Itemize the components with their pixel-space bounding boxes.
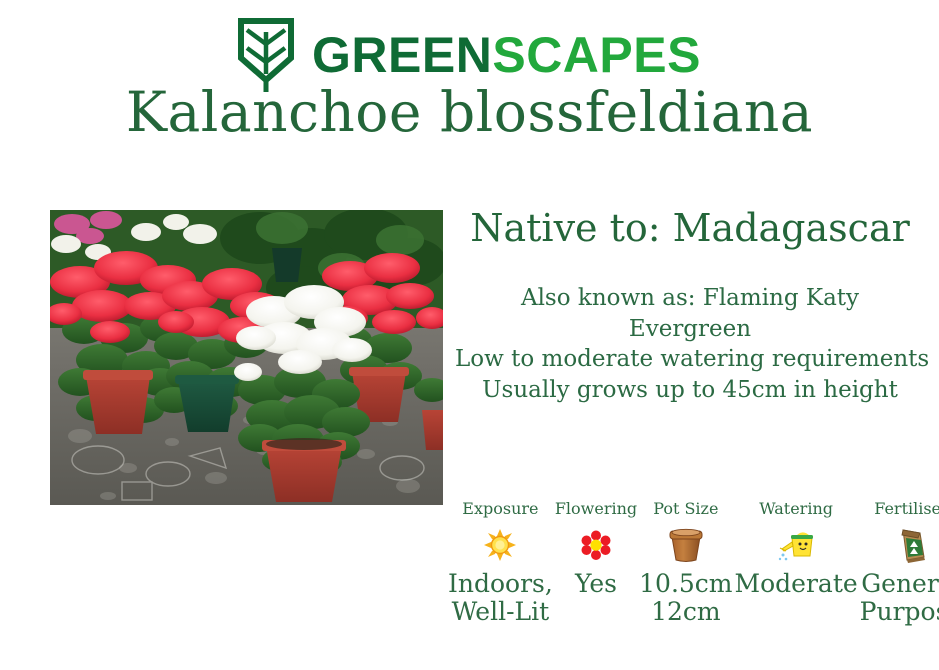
care-value-fertiliser-line-2: Purpose xyxy=(860,598,939,626)
sun-icon xyxy=(448,524,553,566)
page-title: Kalanchoe blossfeldiana xyxy=(0,84,939,141)
native-to-subtitle: Native to: Madagascar xyxy=(455,208,925,250)
care-value-watering-line-1: Moderate xyxy=(735,570,858,598)
watering-can-icon xyxy=(735,524,858,566)
care-column-watering: Watering Moderate xyxy=(734,500,859,598)
brand-word-scapes: SCAPES xyxy=(492,27,701,83)
care-value-fertiliser: General Purpose xyxy=(860,570,939,626)
care-column-pot-size: Pot Size 10.5cm 12cm xyxy=(638,500,733,626)
care-value-exposure: Indoors, Well-Lit xyxy=(448,570,553,626)
description-line-4: Usually grows up to 45cm in height xyxy=(455,375,925,406)
care-value-flowering-line-1: Yes xyxy=(555,570,637,598)
brand-word-green: GREEN xyxy=(312,27,492,83)
care-header-pot-size: Pot Size xyxy=(639,500,732,518)
care-header-flowering: Flowering xyxy=(555,500,637,518)
care-column-exposure: Exposure Indoors, Well-Lit xyxy=(447,500,554,626)
care-value-flowering: Yes xyxy=(555,570,637,598)
description-line-1: Also known as: Flaming Katy xyxy=(455,283,925,314)
care-value-pot-size: 10.5cm 12cm xyxy=(639,570,732,626)
fertiliser-bag-icon xyxy=(860,524,939,566)
description-block: Also known as: Flaming Katy Evergreen Lo… xyxy=(455,283,925,405)
brand-wordmark: GREENSCAPES xyxy=(312,30,701,80)
brand-header: GREENSCAPES xyxy=(0,0,939,78)
plant-pot-icon xyxy=(639,524,732,566)
flower-icon xyxy=(555,524,637,566)
care-header-watering: Watering xyxy=(735,500,858,518)
kalanchoe-plants-photo xyxy=(50,210,443,505)
care-header-exposure: Exposure xyxy=(448,500,553,518)
care-value-fertiliser-line-1: General xyxy=(860,570,939,598)
description-line-2: Evergreen xyxy=(455,314,925,345)
care-column-flowering: Flowering Yes xyxy=(554,500,638,598)
description-line-3: Low to moderate watering requirements xyxy=(455,344,925,375)
care-value-pot-size-line-2: 12cm xyxy=(639,598,732,626)
care-value-exposure-line-1: Indoors, xyxy=(448,570,553,598)
care-value-watering: Moderate xyxy=(735,570,858,598)
care-value-pot-size-line-1: 10.5cm xyxy=(639,570,732,598)
care-value-exposure-line-2: Well-Lit xyxy=(448,598,553,626)
care-header-fertiliser: Fertiliser xyxy=(860,500,939,518)
care-column-fertiliser: Fertiliser General Purpose xyxy=(859,500,939,626)
care-spec-table: Exposure Indoors, Well-Lit Flowering xyxy=(447,500,931,626)
